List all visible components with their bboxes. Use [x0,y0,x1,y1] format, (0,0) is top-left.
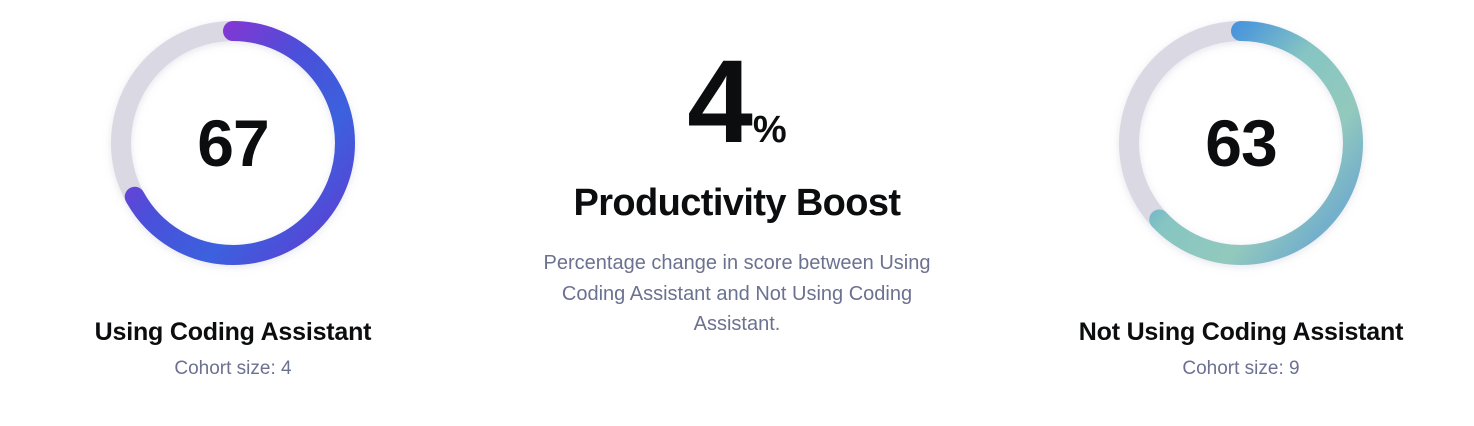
gauge-label-using-coding-assistant: Using Coding Assistant [95,318,372,347]
delta-headline: Productivity Boost [573,183,900,225]
delta-percent-sign: % [753,111,787,149]
donut-gauge-icon [102,12,364,274]
delta-number: 4 [687,48,749,157]
productivity-comparison-panel: 67 Using Coding Assistant Cohort size: 4… [0,0,1474,426]
gauge-label-not-using-coding-assistant: Not Using Coding Assistant [1079,318,1403,347]
delta-value-row: 4 % [687,48,786,157]
gauge-card-using-coding-assistant: 67 Using Coding Assistant Cohort size: 4 [0,0,466,426]
delta-summary-card: 4 % Productivity Boost Percentage change… [467,0,1007,426]
gauge-caption-right: Not Using Coding Assistant Cohort size: … [1079,318,1403,381]
gauge-using-coding-assistant: 67 [102,12,364,274]
donut-gauge-icon [1110,12,1372,274]
delta-description: Percentage change in score between Using… [537,248,937,339]
gauge-caption-left: Using Coding Assistant Cohort size: 4 [95,318,372,381]
gauge-not-using-coding-assistant: 63 [1110,12,1372,274]
cohort-size-left: Cohort size: 4 [95,358,372,381]
delta-summary-inner: 4 % Productivity Boost Percentage change… [527,0,947,340]
cohort-size-right: Cohort size: 9 [1079,358,1403,381]
gauge-card-not-using-coding-assistant: 63 Not Using Coding Assistant Cohort siz… [1008,0,1474,426]
